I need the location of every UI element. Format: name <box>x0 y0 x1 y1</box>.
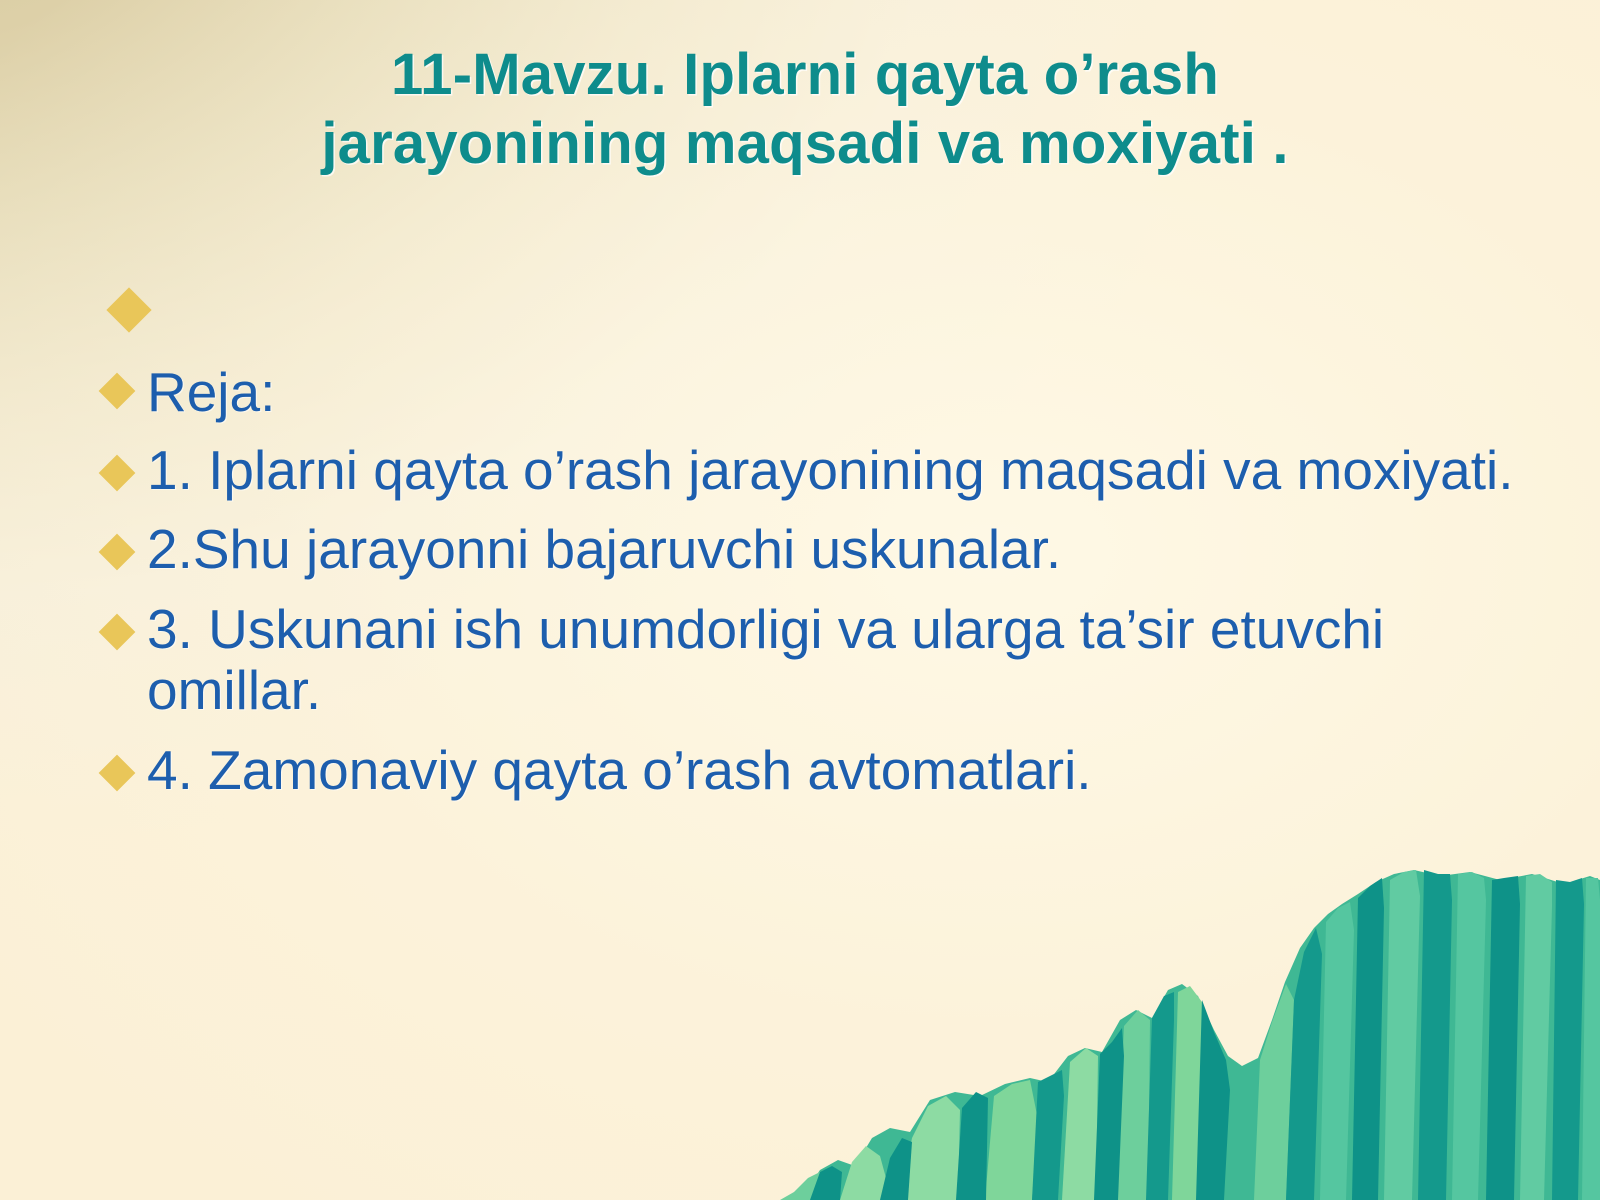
list-item: 4. Zamonaviy qayta o’rash avtomatlari. <box>0 738 1520 802</box>
bullet-list: Reja: 1. Iplarni qayta o’rash jarayonini… <box>0 286 1520 818</box>
list-item: Reja: <box>0 360 1520 424</box>
list-item: 1. Iplarni qayta o’rash jarayonining maq… <box>0 438 1520 502</box>
diamond-bullet-icon <box>99 613 136 650</box>
slide-title-line-2: jarayonining maqsadi va moxiyati . <box>120 113 1490 176</box>
diamond-bullet-icon <box>99 534 136 571</box>
presentation-slide: 11-Mavzu. Iplarni qayta o’rash jarayonin… <box>0 0 1600 1200</box>
list-item-text <box>162 286 1520 288</box>
diamond-bullet-icon <box>99 373 136 410</box>
list-item <box>0 286 1520 326</box>
diamond-bullet-icon <box>106 287 151 332</box>
diamond-bullet-icon <box>99 454 136 491</box>
diamond-bullet-icon <box>99 755 136 792</box>
list-item: 3. Uskunani ish unumdorligi va ularga ta… <box>0 597 1520 722</box>
list-item-text: 4. Zamonaviy qayta o’rash avtomatlari. <box>147 738 1520 802</box>
list-item-text: 2.Shu jarayonni bajaruvchi uskunalar. <box>147 517 1520 581</box>
list-item-text: 1. Iplarni qayta o’rash jarayonining maq… <box>147 438 1520 502</box>
list-item-text: 3. Uskunani ish unumdorligi va ularga ta… <box>147 597 1520 722</box>
mountain-decoration-graphic <box>780 870 1600 1200</box>
list-item: 2.Shu jarayonni bajaruvchi uskunalar. <box>0 517 1520 581</box>
slide-title: 11-Mavzu. Iplarni qayta o’rash jarayonin… <box>0 44 1600 175</box>
slide-title-line-1: 11-Mavzu. Iplarni qayta o’rash <box>120 44 1490 107</box>
list-item-text: Reja: <box>147 360 1520 424</box>
